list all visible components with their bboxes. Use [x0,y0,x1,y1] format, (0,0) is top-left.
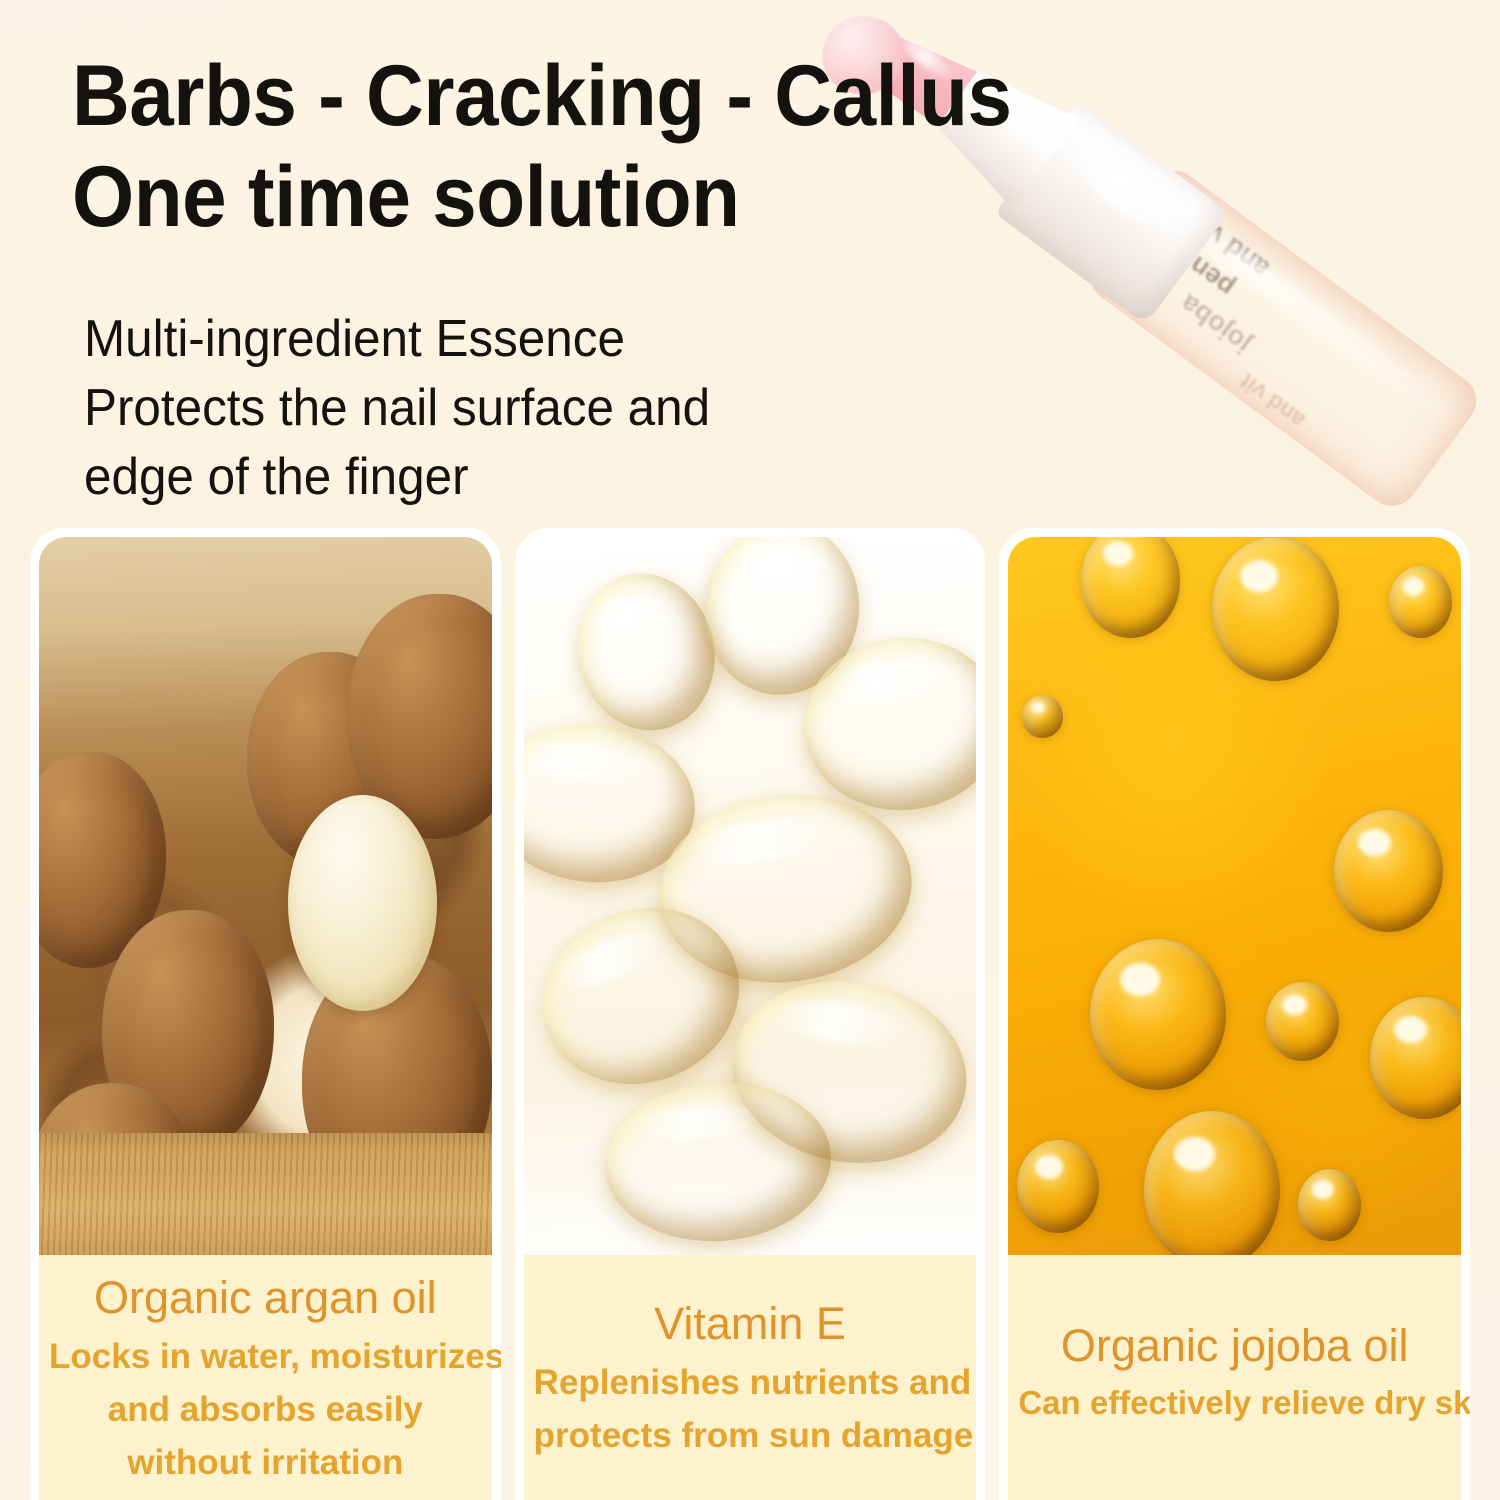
oil-bubble [1266,982,1338,1061]
oil-bubble [1370,997,1461,1119]
description-line: without irritation [49,1436,482,1489]
ingredient-title: Vitamin E [534,1297,967,1350]
wooden-bowl-rim [39,1133,492,1255]
description-line: protects from sun damage [534,1409,967,1462]
description-line: Replenishes nutrients and [534,1356,967,1409]
headline-block: Barbs - Cracking - Callus One time solut… [72,46,1152,247]
ingredient-card-organic-jojoba-oil: Organic jojoba oil Can effectively relie… [999,528,1470,1500]
oil-bubble [1298,1169,1361,1241]
pen-print-word-1: and vit [1187,207,1275,284]
ingredient-title: Organic argan oil [49,1271,482,1324]
oil-bubble [1334,810,1443,932]
photo-macadamia-nuts [39,537,492,1255]
oil-bubble [1090,939,1226,1090]
oil-bubble [1081,537,1181,638]
pen-print-word-4: and vit [1235,368,1311,434]
ingredient-description: Can effectively relieve dry skin [1018,1378,1451,1428]
oil-bubble [1022,695,1063,738]
ingredient-card-vitamin-e: Vitamin E Replenishes nutrients and prot… [515,528,986,1500]
ingredient-description: Locks in water, moisturizes and absorbs … [49,1330,482,1490]
subheading-block: Multi-ingredient Essence Protects the na… [84,305,904,512]
headline-line-2: One time solution [72,147,1076,248]
subheading-line-2: Protects the nail surface and [84,374,863,443]
caption-panel: Vitamin E Replenishes nutrients and prot… [524,1255,977,1500]
softgel-capsule [561,559,731,745]
oil-bubble [1017,1140,1098,1233]
ingredient-description: Replenishes nutrients and protects from … [534,1356,967,1462]
description-line: Can effectively relieve dry skin [1018,1378,1451,1428]
photo-vitamin-e-capsules [524,537,977,1255]
oil-bubble [1389,566,1452,638]
oil-bubble [1144,1111,1280,1255]
description-line: Locks in water, moisturizes [49,1330,482,1383]
subheading-line-3: edge of the finger [84,443,863,512]
pen-print-word-3: jojoba [1175,288,1257,360]
subheading-line-1: Multi-ingredient Essence [84,305,863,374]
photo-jojoba-oil-bubbles [1008,537,1461,1255]
ingredient-title: Organic jojoba oil [1018,1319,1451,1372]
ingredient-card-organic-argan-oil: Organic argan oil Locks in water, moistu… [30,528,501,1500]
nut-kernel [288,795,437,1010]
caption-panel: Organic argan oil Locks in water, moistu… [39,1255,492,1500]
headline-line-1: Barbs - Cracking - Callus [72,46,1076,147]
ingredient-cards-row: Organic argan oil Locks in water, moistu… [0,528,1500,1500]
pen-print-word-2: pen on [1151,226,1241,304]
description-line: and absorbs easily [49,1383,482,1436]
oil-bubble [1212,537,1339,681]
caption-panel: Organic jojoba oil Can effectively relie… [1008,1255,1461,1500]
product-infographic: Barbs - Cracking - Callus One time solut… [0,0,1500,1500]
